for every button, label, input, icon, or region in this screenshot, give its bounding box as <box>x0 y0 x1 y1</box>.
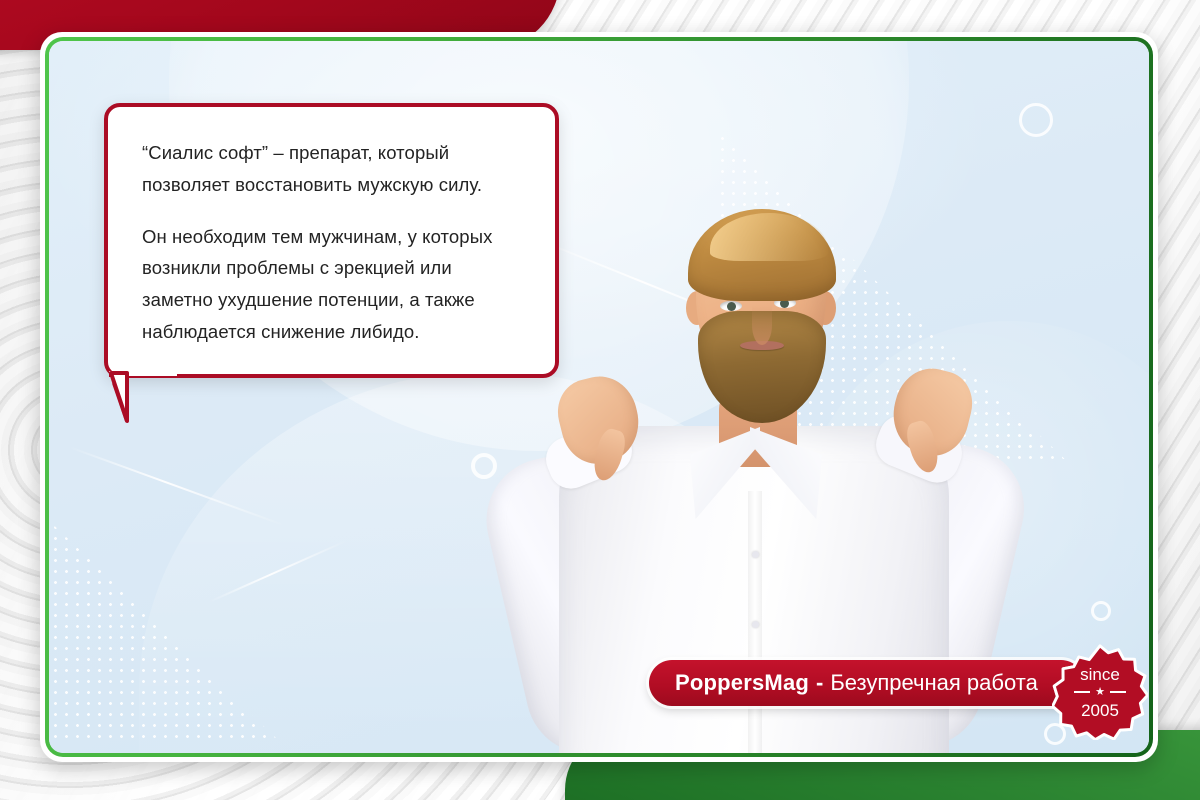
badge-divider: ★ <box>1074 687 1126 698</box>
brand-tagline: Безупречная работа <box>830 670 1037 696</box>
brand-banner: PoppersMag - Безупречная работа <box>649 660 1084 706</box>
speech-bubble-tail-icon <box>109 371 177 423</box>
brand-name: PoppersMag <box>675 670 809 696</box>
badge-divider-bar-left <box>1074 691 1090 693</box>
badge-text-group: since ★ 2005 <box>1052 644 1148 740</box>
pupil-left <box>727 302 736 311</box>
card-green-frame: “Сиалис софт” – препарат, который позвол… <box>45 37 1153 757</box>
badge-year: 2005 <box>1081 702 1119 719</box>
nose <box>752 305 772 345</box>
speech-bubble: “Сиалис софт” – препарат, который позвол… <box>104 103 559 378</box>
star-icon: ★ <box>1095 687 1105 698</box>
badge-divider-bar-right <box>1110 691 1126 693</box>
brand-separator: - <box>816 670 823 696</box>
main-card: “Сиалис софт” – препарат, который позвол… <box>40 32 1158 762</box>
shirt-button <box>752 621 759 628</box>
bubble-paragraph-1: “Сиалис софт” – препарат, который позвол… <box>142 137 521 201</box>
badge-since-label: since <box>1080 666 1120 683</box>
since-badge: since ★ 2005 <box>1052 644 1148 740</box>
bubble-paragraph-2: Он необходим тем мужчинам, у которых воз… <box>142 221 521 348</box>
shirt-button <box>752 551 759 558</box>
